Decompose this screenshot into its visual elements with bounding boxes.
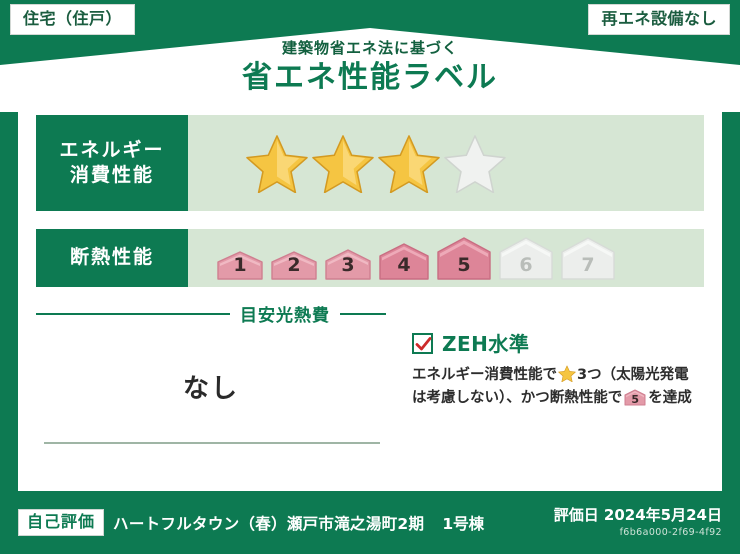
building-type-tag: 住宅（住戸）: [10, 4, 135, 35]
insulation-level-badge: 5: [436, 236, 492, 280]
check-icon: [415, 336, 432, 353]
zeh-heading: ZEH水準: [412, 333, 704, 354]
star-filled-icon: [378, 133, 440, 193]
insulation-performance-row: 断熱性能 1 2: [36, 229, 704, 287]
insulation-level-number: 7: [560, 256, 616, 275]
label-body-card: エネルギー 消費性能: [18, 101, 722, 491]
evaluation-date: 評価日 2024年5月24日: [554, 506, 722, 524]
energy-performance-value: [188, 115, 704, 211]
insulation-level-scale: 1 2 3: [216, 236, 616, 280]
star-empty-icon: [444, 133, 506, 193]
label-header: 住宅（住戸） 再エネ設備なし 建築物省エネ法に基づく 省エネ性能ラベル: [0, 0, 740, 112]
footer-meta: 評価日 2024年5月24日 f6b6a000-2f69-4f92: [554, 506, 722, 538]
utility-cost-heading: 目安光熱費: [36, 301, 386, 326]
insulation-level-number: 2: [270, 256, 318, 275]
inline-house-badge: 5: [624, 389, 646, 406]
label-footer: 自己評価 ハートフルタウン（春）瀬戸市滝之湯町2期 1号棟 評価日 2024年5…: [0, 491, 740, 554]
energy-key-line2: 消費性能: [70, 163, 154, 188]
energy-performance-row: エネルギー 消費性能: [36, 115, 704, 211]
energy-performance-key: エネルギー 消費性能: [36, 115, 188, 211]
insulation-level-number: 6: [498, 256, 554, 275]
star-rating: [246, 133, 506, 193]
utility-cost-block: 目安光熱費 なし: [36, 297, 386, 477]
renewable-energy-tag: 再エネ設備なし: [588, 4, 730, 35]
zeh-block: ZEH水準 エネルギー消費性能で 3つ（太陽光発電 は考慮しない）、かつ断熱性能…: [386, 297, 704, 477]
insulation-level-badge: 2: [270, 250, 318, 280]
self-evaluation-badge: 自己評価: [18, 509, 104, 536]
zeh-desc-part1: エネルギー消費性能で: [412, 367, 557, 383]
document-id: f6b6a000-2f69-4f92: [554, 528, 722, 539]
property-unit: 1号棟: [442, 512, 484, 534]
inline-house-number: 5: [624, 394, 646, 405]
insulation-level-number: 4: [378, 256, 430, 275]
utility-cost-underline: [44, 442, 380, 444]
heading-rule-right: [340, 313, 386, 315]
property-name: ハートフルタウン（春）瀬戸市滝之湯町2期: [113, 512, 424, 534]
heading-rule-left: [36, 313, 230, 315]
zeh-desc-part2: は考慮しない）、かつ断熱性能で: [412, 390, 622, 406]
insulation-level-number: 1: [216, 256, 264, 275]
insulation-level-badge: 4: [378, 242, 430, 280]
insulation-level-badge: 7: [560, 236, 616, 280]
insulation-level-badge: 1: [216, 250, 264, 280]
utility-cost-value: なし: [36, 368, 386, 405]
insulation-performance-key: 断熱性能: [36, 229, 188, 287]
zeh-checkbox[interactable]: [412, 333, 433, 354]
insulation-level-number: 3: [324, 256, 372, 275]
insulation-level-badge: 6: [498, 236, 554, 280]
energy-performance-label: 住宅（住戸） 再エネ設備なし 建築物省エネ法に基づく 省エネ性能ラベル エネルギ…: [0, 0, 740, 554]
zeh-desc-stars: 3つ（太陽光発電: [577, 367, 689, 383]
insulation-level-number: 5: [436, 256, 492, 275]
zeh-title: ZEH水準: [442, 334, 529, 354]
inline-star-icon: [558, 365, 576, 382]
insulation-performance-value: 1 2 3: [188, 229, 704, 287]
star-filled-icon: [312, 133, 374, 193]
energy-key-line1: エネルギー: [59, 138, 164, 163]
zeh-desc-part3: を達成: [648, 390, 692, 406]
star-filled-icon: [246, 133, 308, 193]
zeh-description: エネルギー消費性能で 3つ（太陽光発電 は考慮しない）、かつ断熱性能で 5 を達…: [412, 364, 704, 411]
utility-cost-label: 目安光熱費: [240, 301, 330, 326]
insulation-level-badge: 3: [324, 248, 372, 280]
lower-section: 目安光熱費 なし ZEH水準 エネルギー消費性能で: [36, 297, 704, 477]
